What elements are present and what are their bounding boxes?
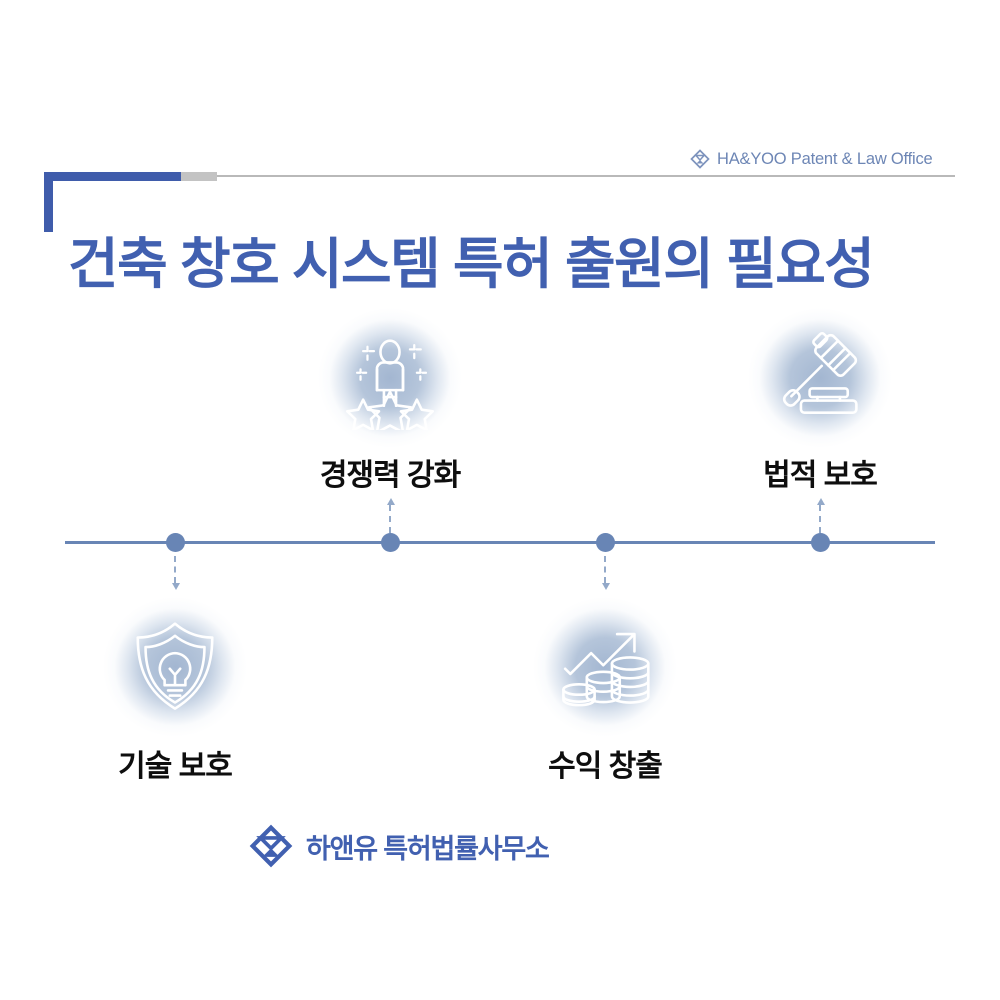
connector-legal-protection (819, 505, 823, 533)
timeline-node-competitiveness[interactable] (381, 533, 400, 552)
accent-bar-gray (181, 172, 217, 181)
item-label-competitiveness: 경쟁력 강화 (320, 450, 460, 494)
shield-lightbulb-icon (123, 615, 227, 719)
arrow-up-icon (387, 498, 395, 505)
icon-blob-tech-protection (100, 597, 250, 737)
brand-header: HA&YOO Patent & Law Office (690, 149, 933, 169)
coins-growth-arrow-icon (553, 615, 657, 719)
item-competitiveness[interactable]: 경쟁력 강화 (315, 308, 465, 494)
header-divider-line (217, 175, 955, 177)
timeline-node-revenue-generation[interactable] (596, 533, 615, 552)
person-stars-icon (338, 326, 442, 430)
item-tech-protection[interactable]: 기술 보호 (100, 597, 250, 785)
connector-competitiveness (389, 505, 393, 533)
connector-tech-protection (174, 556, 178, 583)
gavel-icon (768, 326, 872, 430)
footer-logo-label: 하앤유 특허법률사무소 (306, 827, 549, 866)
timeline-node-legal-protection[interactable] (811, 533, 830, 552)
icon-blob-revenue-generation (530, 597, 680, 737)
slide-canvas: HA&YOO Patent & Law Office 건축 창호 시스템 특허 … (0, 0, 1000, 1000)
connector-revenue-generation (604, 556, 608, 583)
item-revenue-generation[interactable]: 수익 창출 (530, 597, 680, 785)
diamond-logo-icon (690, 149, 710, 169)
brand-header-label: HA&YOO Patent & Law Office (717, 150, 933, 169)
item-label-tech-protection: 기술 보호 (118, 741, 232, 785)
arrow-up-icon (817, 498, 825, 505)
icon-blob-legal-protection (745, 308, 895, 448)
icon-blob-competitiveness (315, 308, 465, 448)
item-label-legal-protection: 법적 보호 (763, 450, 877, 494)
arrow-down-icon (172, 583, 180, 590)
item-label-revenue-generation: 수익 창출 (548, 741, 662, 785)
footer-logo: 하앤유 특허법률사무소 (248, 823, 549, 869)
timeline-node-tech-protection[interactable] (166, 533, 185, 552)
item-legal-protection[interactable]: 법적 보호 (745, 308, 895, 494)
page-title: 건축 창호 시스템 특허 출원의 필요성 (68, 233, 873, 296)
accent-bar-blue (44, 172, 181, 181)
arrow-down-icon (602, 583, 610, 590)
diamond-logo-icon (248, 823, 294, 869)
accent-bar-vertical (44, 181, 53, 232)
timeline-axis (65, 541, 935, 544)
